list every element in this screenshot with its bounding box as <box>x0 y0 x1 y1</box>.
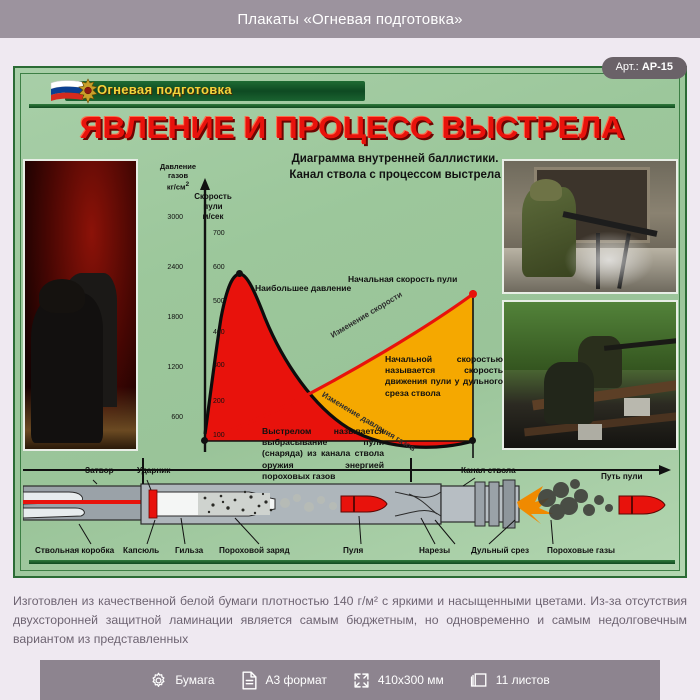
photo-soldier-2 <box>544 362 594 424</box>
spec-material: Бумага <box>150 672 214 689</box>
chart-ylabel-right-line-1: Скорость <box>185 192 241 202</box>
barrel-label-zatvor: Затвор <box>85 466 114 475</box>
spec-size: 410x300 мм <box>353 672 444 689</box>
poster-header-rule <box>29 104 675 108</box>
photo-soldier-firing-left <box>23 159 138 451</box>
chart-tick-right-300: 300 <box>213 362 235 369</box>
barrel-label-udarnik: Ударник <box>137 466 170 475</box>
poster-header-title: Огневая подготовка <box>97 82 232 97</box>
chart-tick-left-1800: 1800 <box>157 314 183 321</box>
photo-soldier-helmet <box>39 279 85 313</box>
document-icon <box>241 671 258 690</box>
chart-tick-right-200: 200 <box>213 398 235 405</box>
chart-ylabel-left-line-2: газов <box>147 171 209 180</box>
layers-icon <box>470 671 488 689</box>
chart-ylabel-left-line-3: кг/см2 <box>147 181 209 192</box>
chart-textbox-muzzle-velocity-definition: Начальной скоростью называется скорость … <box>385 354 503 399</box>
gear-icon <box>150 672 167 689</box>
page-title: Плакаты «Огневая подготовка» <box>237 11 462 28</box>
spec-sheets: 11 листов <box>470 671 550 689</box>
chart-tick-right-400: 400 <box>213 329 235 336</box>
photo-block-2 <box>578 424 602 440</box>
barrel-label-kanal-stvola: Канал ствола <box>461 466 516 475</box>
photo-smoke <box>564 231 654 289</box>
spec-size-label: 410x300 мм <box>378 673 444 687</box>
resize-icon <box>353 672 370 689</box>
chart-label-muzzle-velocity: Начальная скорость пули <box>348 274 457 284</box>
article-prefix: Арт.: <box>616 61 639 73</box>
spec-format: А3 формат <box>241 671 327 690</box>
barrel-label-porohovoy-zaryad: Пороховой заряд <box>219 546 290 555</box>
barrel-label-pulya: Пуля <box>343 546 363 555</box>
product-description: Изготовлен из качественной белой бумаги … <box>13 592 687 649</box>
chart-ylabel-left-line-1: Давление <box>147 162 209 171</box>
barrel-label-porohovye-gazy: Пороховые газы <box>547 546 615 555</box>
spec-material-label: Бумага <box>175 673 214 687</box>
barrel-label-gilza: Гильза <box>175 546 203 555</box>
chart-ylabel-right-line-2: пули <box>185 202 241 212</box>
chart-muzzle-velocity-marker <box>469 290 477 298</box>
chart-ylabel-left: Давление газов кг/см2 <box>147 162 209 192</box>
chart-forcing-pressure-marker <box>201 437 208 444</box>
military-emblem-icon <box>77 78 99 104</box>
chart-tick-left-3000: 3000 <box>157 214 183 221</box>
chart-tick-left-1200: 1200 <box>157 364 183 371</box>
chart-ylabel-right-line-3: м/сек <box>185 212 241 222</box>
window-titlebar: Плакаты «Огневая подготовка» <box>0 0 700 38</box>
chart-tick-right-600: 600 <box>213 264 235 271</box>
poster-header: Огневая подготовка <box>29 78 365 104</box>
barrel-label-stvolnaya-korobka: Ствольная коробка <box>35 546 114 555</box>
barrel-label-kapsyul: Капсюль <box>123 546 159 555</box>
chart-tick-left-600: 600 <box>157 414 183 421</box>
photo-soldier-silhouette <box>31 293 103 443</box>
chart-label-peak-pressure: Наибольшее давление <box>255 283 351 293</box>
poster-footer-rule <box>29 560 675 564</box>
page-root: Плакаты «Огневая подготовка» Арт.: АР-15… <box>0 0 700 700</box>
chart-peak-pressure-marker <box>236 270 243 277</box>
chart-tick-left-2400: 2400 <box>157 264 183 271</box>
spec-sheets-label: 11 листов <box>496 673 550 687</box>
barrel-label-narezy: Нарезы <box>419 546 450 555</box>
specs-bar: Бумага А3 формат 410x300 мм 11 листов <box>40 660 660 700</box>
barrel-label-dulnyy-srez: Дульный срез <box>471 546 529 555</box>
chart-ylabel-right: Скорость пули м/сек <box>185 192 241 222</box>
poster-main-title: ЯВЛЕНИЕ И ПРОЦЕСС ВЫСТРЕЛА <box>13 110 687 146</box>
chart-tick-right-100: 100 <box>213 432 235 439</box>
photo-riflemen-bottom-right <box>502 300 678 450</box>
photo-block-1 <box>624 398 650 416</box>
chart-muzzle-pressure-marker <box>469 437 476 444</box>
article-value: АР-15 <box>642 61 673 73</box>
ballistics-chart: Давление газов кг/см2 Скорость пули м/се… <box>143 166 501 458</box>
photo-soldier-helmet <box>530 179 562 201</box>
poster-image[interactable]: Огневая подготовка ЯВЛЕНИЕ И ПРОЦЕСС ВЫС… <box>13 66 687 578</box>
photo-machinegunner-top-right <box>502 159 678 294</box>
chart-tick-right-500: 500 <box>213 298 235 305</box>
barrel-label-put-puli: Путь пули <box>601 472 642 481</box>
barrel-cutaway-diagram: Затвор Ударник Канал ствола Путь пули Ст… <box>23 458 681 568</box>
spec-format-label: А3 формат <box>266 673 327 687</box>
article-number-badge: Арт.: АР-15 <box>602 57 687 79</box>
chart-tick-right-700: 700 <box>213 230 235 237</box>
